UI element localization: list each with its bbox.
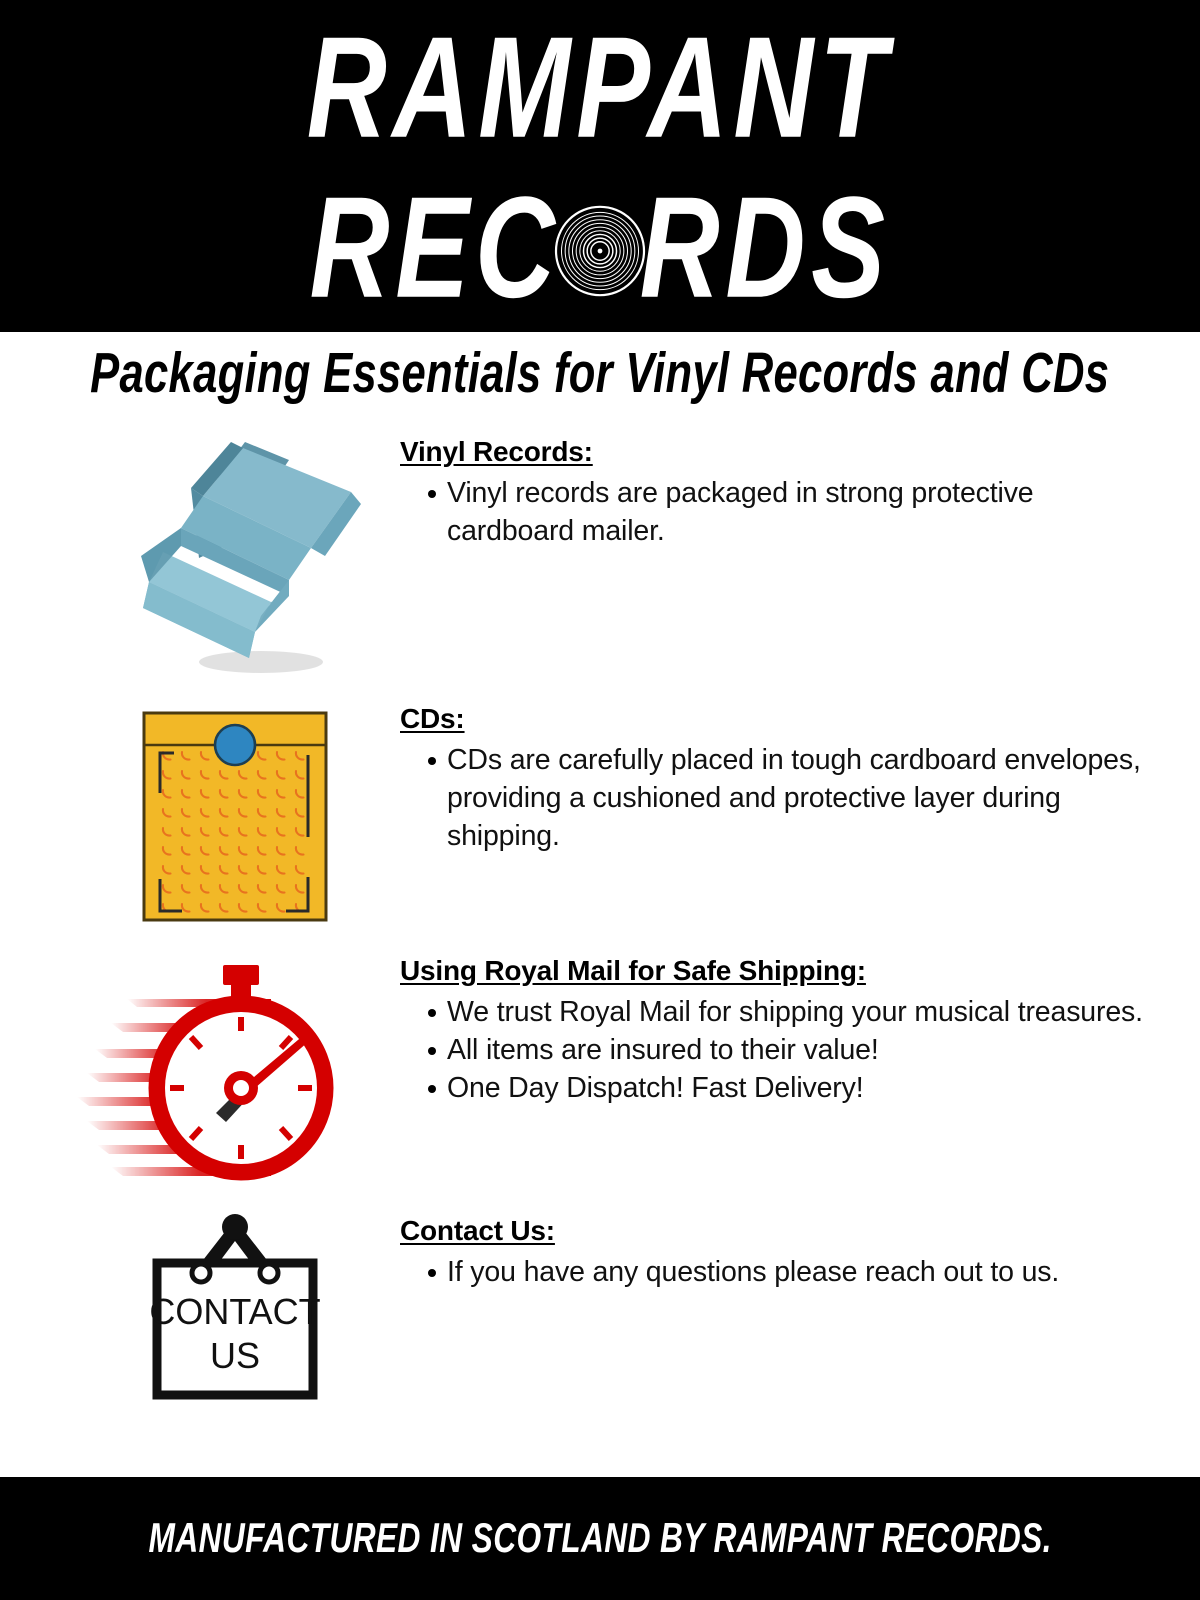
section-heading-contact: Contact Us: xyxy=(400,1215,1160,1247)
padded-envelope-icon xyxy=(140,709,330,924)
section-heading-cds: CDs: xyxy=(400,703,1160,735)
royal-mail-illustration-column xyxy=(40,955,400,1190)
cds-text-column: CDs: CDs are carefully placed in tough c… xyxy=(400,703,1180,856)
section-royal-mail: Using Royal Mail for Safe Shipping: We t… xyxy=(40,955,1180,1190)
page-subtitle: Packaging Essentials for Vinyl Records a… xyxy=(0,332,1200,416)
list-item: If you have any questions please reach o… xyxy=(400,1253,1160,1291)
fast-stopwatch-icon xyxy=(75,955,365,1190)
royal-mail-text-column: Using Royal Mail for Safe Shipping: We t… xyxy=(400,955,1180,1108)
page-footer: MANUFACTURED IN SCOTLAND BY RAMPANT RECO… xyxy=(0,1477,1200,1600)
brand-title-line1: RAMPANT xyxy=(307,16,893,160)
contact-illustration-column: CONTACT US xyxy=(70,1215,400,1401)
section-cds: CDs: CDs are carefully placed in tough c… xyxy=(70,703,1180,924)
section-vinyl-records: Vinyl Records: Vinyl records are package… xyxy=(70,436,1180,680)
list-item: All items are insured to their value! xyxy=(400,1031,1160,1069)
sign-text-line2: US xyxy=(210,1335,260,1376)
cds-illustration-column xyxy=(70,703,400,924)
list-item: One Day Dispatch! Fast Delivery! xyxy=(400,1069,1160,1107)
section-bullets-contact: If you have any questions please reach o… xyxy=(400,1253,1160,1291)
cardboard-mailer-box-icon xyxy=(103,430,368,680)
footer-text: MANUFACTURED IN SCOTLAND BY RAMPANT RECO… xyxy=(148,1514,1051,1562)
section-bullets-cds: CDs are carefully placed in tough cardbo… xyxy=(400,741,1160,856)
contact-text-column: Contact Us: If you have any questions pl… xyxy=(400,1215,1180,1291)
brand-title-line2-pre: REC xyxy=(309,176,560,320)
vinyl-record-icon xyxy=(554,205,646,297)
section-heading-vinyl: Vinyl Records: xyxy=(400,436,1160,468)
section-bullets-vinyl: Vinyl records are packaged in strong pro… xyxy=(400,474,1160,550)
list-item: CDs are carefully placed in tough cardbo… xyxy=(400,741,1160,856)
sign-text-line1: CONTACT xyxy=(149,1291,320,1332)
section-bullets-royal-mail: We trust Royal Mail for shipping your mu… xyxy=(400,993,1160,1108)
brand-title-line2: REC RDS xyxy=(309,176,890,320)
section-contact-us: CONTACT US Contact Us: If you have any q… xyxy=(70,1215,1180,1401)
vinyl-illustration-column xyxy=(70,436,400,680)
brand-header: RAMPANT REC RDS xyxy=(0,0,1200,332)
vinyl-text-column: Vinyl Records: Vinyl records are package… xyxy=(400,436,1180,550)
list-item: Vinyl records are packaged in strong pro… xyxy=(400,474,1160,550)
page-subtitle-text: Packaging Essentials for Vinyl Records a… xyxy=(90,342,1109,406)
contact-us-sign-icon: CONTACT US xyxy=(135,1211,335,1401)
list-item: We trust Royal Mail for shipping your mu… xyxy=(400,993,1160,1031)
section-heading-royal-mail: Using Royal Mail for Safe Shipping: xyxy=(400,955,1160,987)
brand-title-line2-post: RDS xyxy=(639,176,890,320)
